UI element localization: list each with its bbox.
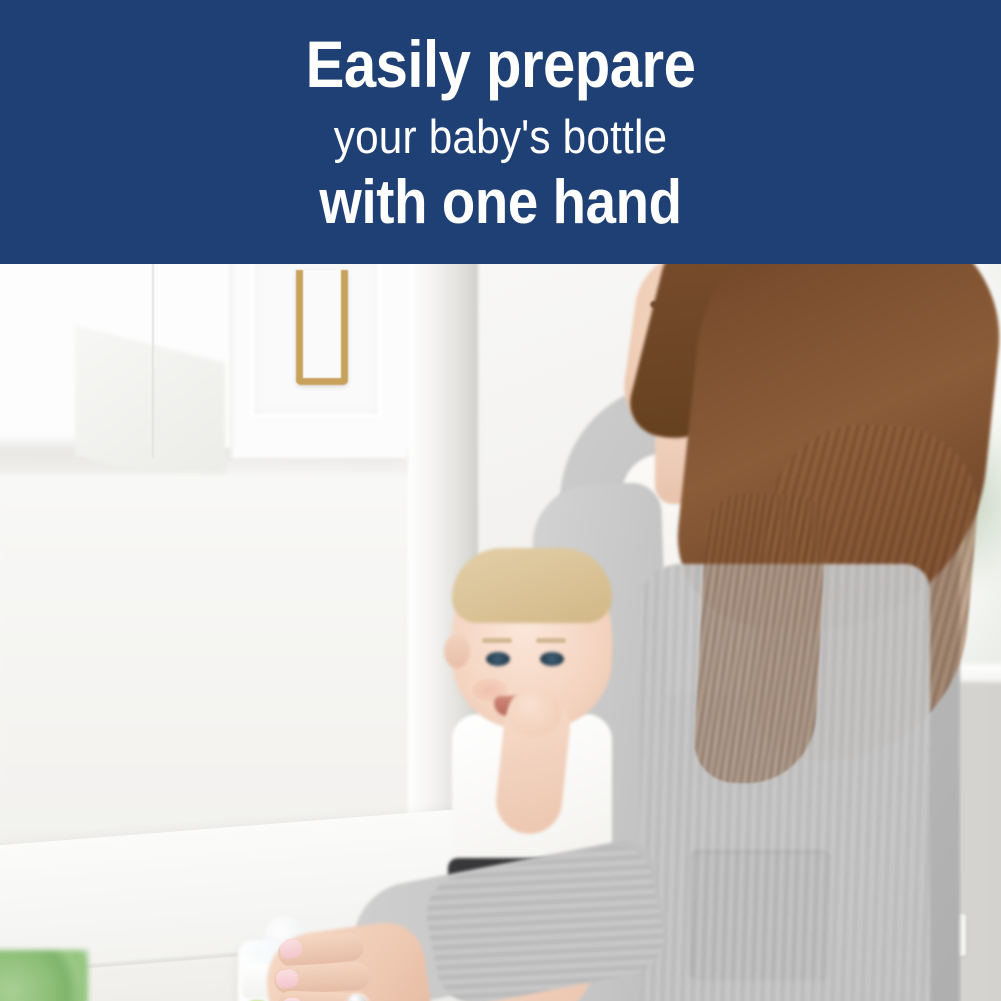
product-lifestyle-image: Easily prepare your baby's bottle with o… — [0, 0, 1001, 1001]
headline-line-1: Easily prepare — [60, 31, 941, 97]
headline-banner: Easily prepare your baby's bottle with o… — [0, 0, 1001, 264]
baby-hair — [452, 548, 612, 623]
cabinet-seam — [152, 264, 154, 458]
cardigan-pocket — [690, 850, 830, 980]
baby-fist — [508, 688, 562, 736]
baby-eye-right — [540, 652, 564, 666]
baby-ear — [444, 634, 470, 668]
brass-handle-icon — [296, 270, 348, 385]
baby-eye-left — [486, 652, 510, 666]
mother-hair-strands — [692, 491, 827, 787]
lifestyle-photograph: Brown's Dr Brown's — [0, 264, 1001, 1001]
baby-eyebrow-right — [536, 638, 566, 643]
headline-line-3: with one hand — [60, 172, 941, 234]
headline-line-2: your baby's bottle — [50, 113, 951, 160]
plant-leaves — [0, 950, 88, 1001]
baby-eyebrow-left — [482, 638, 512, 643]
